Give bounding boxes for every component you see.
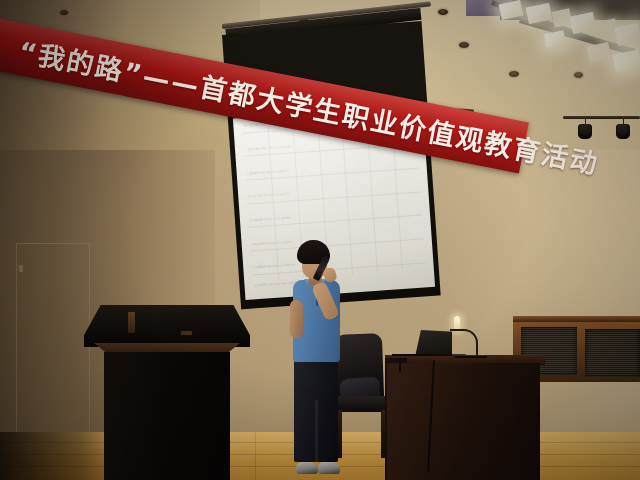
podium-plate (181, 331, 192, 335)
laptop[interactable] (415, 330, 452, 357)
spotlight-icon (578, 124, 592, 139)
shoe (318, 462, 340, 474)
cable (392, 354, 452, 356)
spotlight-bar (563, 116, 640, 119)
desk-lamp-bulb-icon (454, 316, 460, 330)
presenter-left-arm (290, 300, 303, 338)
projection-screen[interactable]: 项目 名称 类别 数量 比例 说明 备注 一 职业价值观 调查 1280 42%… (222, 21, 441, 309)
podium-slot (128, 312, 135, 333)
podium-body (104, 352, 230, 480)
presenter-leg-gap (315, 400, 318, 462)
auditorium-stage-photo: 项目 名称 类别 数量 比例 说明 备注 一 职业价值观 调查 1280 42%… (0, 0, 640, 480)
acoustic-panel-top-rail (513, 316, 640, 322)
cable (399, 358, 401, 372)
acoustic-panel-louver (585, 329, 640, 377)
spotlight-icon (616, 124, 630, 139)
cable (455, 356, 487, 358)
floor-shadow-left (0, 432, 115, 480)
presenter-table (387, 363, 540, 480)
side-door[interactable] (16, 243, 90, 451)
shoe (296, 462, 318, 474)
podium[interactable] (84, 305, 250, 347)
door-knob-icon[interactable] (19, 265, 23, 272)
